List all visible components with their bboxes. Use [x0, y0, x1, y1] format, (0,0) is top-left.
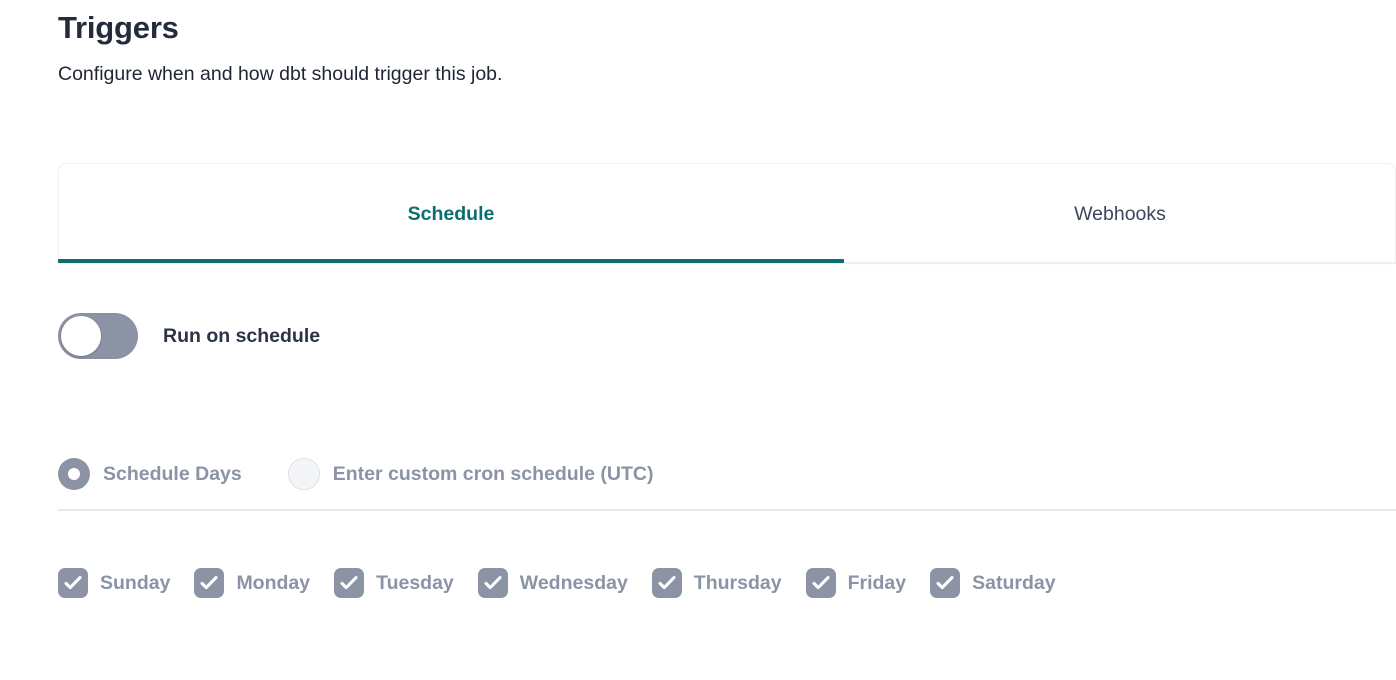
run-on-schedule-toggle[interactable] — [58, 313, 138, 359]
check-icon[interactable] — [194, 568, 224, 598]
day-label-monday: Monday — [236, 572, 310, 595]
check-icon[interactable] — [806, 568, 836, 598]
check-icon[interactable] — [930, 568, 960, 598]
toggle-knob — [61, 316, 101, 356]
day-item-wednesday[interactable]: Wednesday — [478, 568, 628, 598]
day-label-tuesday: Tuesday — [376, 572, 454, 595]
check-icon[interactable] — [58, 568, 88, 598]
day-label-sunday: Sunday — [100, 572, 170, 595]
radio-option-schedule-days[interactable]: Schedule Days — [58, 458, 242, 490]
schedule-mode-radio-group: Schedule Days Enter custom cron schedule… — [58, 458, 653, 490]
active-tab-underline — [58, 259, 844, 263]
day-item-tuesday[interactable]: Tuesday — [334, 568, 454, 598]
day-label-friday: Friday — [848, 572, 907, 595]
check-icon[interactable] — [334, 568, 364, 598]
day-label-thursday: Thursday — [694, 572, 782, 595]
page-header: Triggers Configure when and how dbt shou… — [58, 8, 1358, 87]
day-item-saturday[interactable]: Saturday — [930, 568, 1055, 598]
tab-webhooks[interactable]: Webhooks — [844, 164, 1396, 264]
day-label-wednesday: Wednesday — [520, 572, 628, 595]
page-title: Triggers — [58, 8, 1358, 48]
day-item-thursday[interactable]: Thursday — [652, 568, 782, 598]
day-item-friday[interactable]: Friday — [806, 568, 907, 598]
day-item-sunday[interactable]: Sunday — [58, 568, 170, 598]
radio-label-schedule-days: Schedule Days — [103, 463, 242, 486]
check-icon[interactable] — [652, 568, 682, 598]
check-icon[interactable] — [478, 568, 508, 598]
day-label-saturday: Saturday — [972, 572, 1055, 595]
section-divider — [58, 509, 1396, 511]
page-subtitle: Configure when and how dbt should trigge… — [58, 61, 1358, 87]
radio-label-custom-cron: Enter custom cron schedule (UTC) — [333, 463, 654, 486]
radio-unselected-icon[interactable] — [288, 458, 320, 490]
radio-option-custom-cron[interactable]: Enter custom cron schedule (UTC) — [288, 458, 654, 490]
tab-schedule[interactable]: Schedule — [58, 164, 844, 264]
radio-selected-icon[interactable] — [58, 458, 90, 490]
day-item-monday[interactable]: Monday — [194, 568, 310, 598]
run-on-schedule-label: Run on schedule — [163, 325, 320, 348]
schedule-days-checkbox-group: Sunday Monday Tuesday Wednesday Thursday… — [58, 568, 1056, 598]
triggers-tab-strip: Schedule Webhooks — [58, 163, 1396, 265]
run-on-schedule-row: Run on schedule — [58, 313, 320, 359]
